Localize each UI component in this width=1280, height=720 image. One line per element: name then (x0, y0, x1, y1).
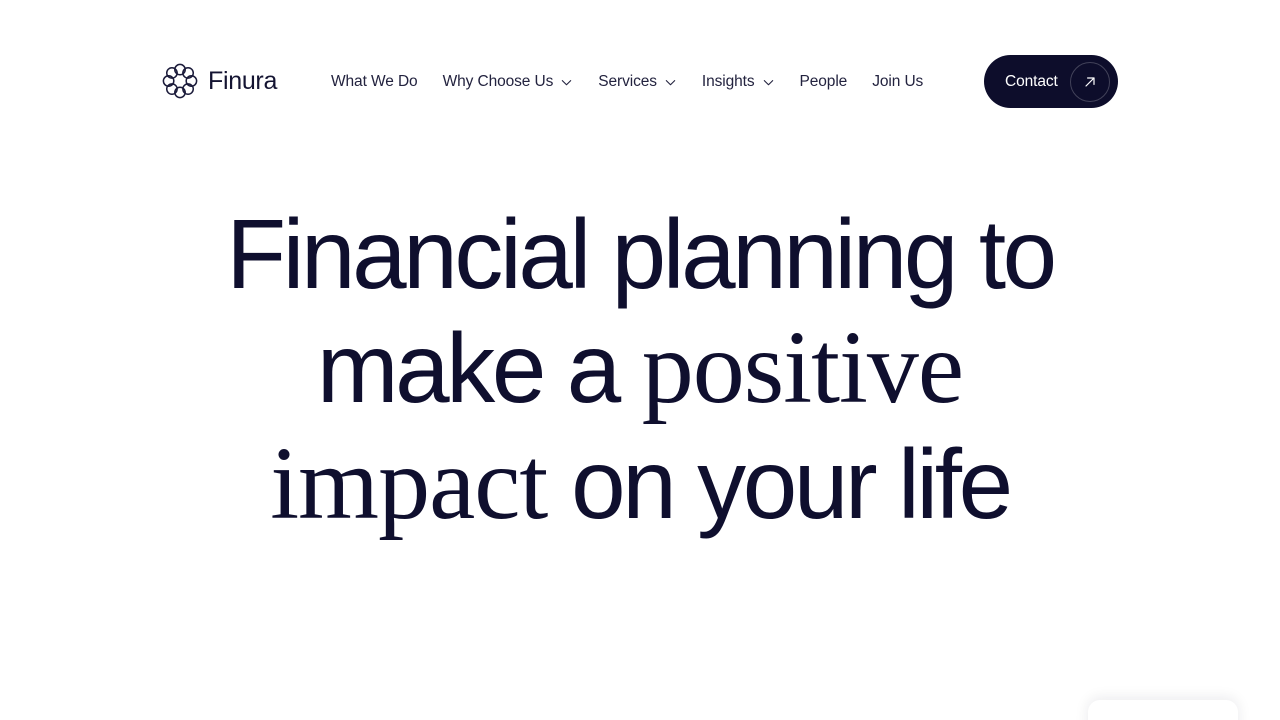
nav-item-label: What We Do (331, 73, 418, 90)
arrow-up-right-icon (1070, 62, 1110, 102)
hero-section: Financial planning to make a positive im… (0, 200, 1280, 543)
page-title: Financial planning to make a positive im… (100, 200, 1180, 543)
hero-line-1: Financial planning to (226, 199, 1054, 309)
nav-item-people[interactable]: People (800, 73, 848, 90)
site-header: Finura What We Do Why Choose Us Services… (0, 0, 1280, 132)
nav-item-label: Join Us (872, 73, 923, 90)
nav-item-label: People (800, 73, 848, 90)
main-navigation: What We Do Why Choose Us Services Insigh… (331, 69, 923, 95)
hero-line-3-accent: impact (270, 426, 547, 541)
nav-item-what-we-do[interactable]: What We Do (331, 73, 418, 90)
brand-logo-link[interactable]: Finura (162, 63, 277, 99)
hero-line-2-accent: positive (642, 310, 963, 425)
hero-line-3-plain: on your life (547, 429, 1009, 539)
chevron-down-icon (762, 76, 775, 89)
nav-item-join-us[interactable]: Join Us (872, 73, 923, 90)
chevron-down-icon (560, 76, 573, 89)
nav-item-label: Insights (702, 73, 755, 90)
chat-widget-panel[interactable] (1088, 700, 1238, 720)
brand-name: Finura (208, 69, 277, 94)
contact-button-label: Contact (1005, 74, 1070, 90)
nav-item-label: Why Choose Us (443, 73, 554, 90)
flower-ring-logo-icon (162, 63, 198, 99)
hero-line-2-plain: make a (317, 313, 642, 423)
nav-item-services[interactable]: Services (598, 73, 677, 90)
nav-item-label: Services (598, 73, 657, 90)
nav-item-why-choose-us[interactable]: Why Choose Us (443, 73, 574, 90)
contact-button[interactable]: Contact (984, 55, 1118, 108)
nav-item-insights[interactable]: Insights (702, 73, 775, 90)
chevron-down-icon (664, 76, 677, 89)
